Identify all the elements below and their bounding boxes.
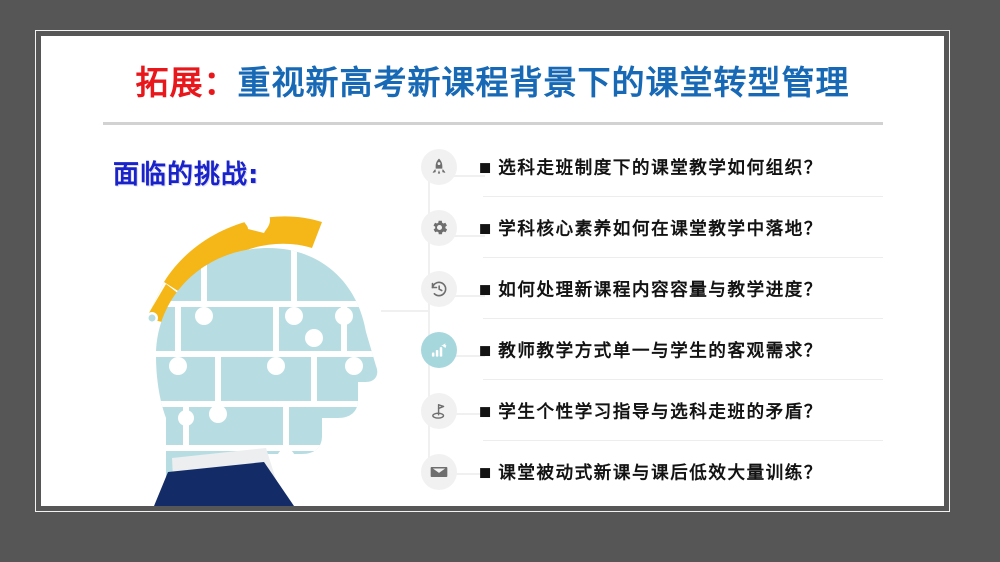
rocket-icon <box>421 149 457 185</box>
page-title: 拓展：重视新高考新课程背景下的课堂转型管理 <box>41 64 944 102</box>
list-item-text: ■教师教学方式单一与学生的客观需求？ <box>479 337 823 362</box>
bullet-square: ■ <box>479 282 491 297</box>
list-item[interactable]: ■学科核心素养如何在课堂教学中落地？ <box>421 197 941 258</box>
envelope-icon <box>421 454 457 490</box>
title-divider <box>103 122 883 125</box>
bullet-square: ■ <box>479 465 491 480</box>
challenge-list: ■选科走班制度下的课堂教学如何组织？ ■学科核心素养如何在课堂教学中落地？ <box>421 136 941 506</box>
list-item-label: 学科核心素养如何在课堂教学中落地？ <box>498 219 823 239</box>
bullet-square: ■ <box>479 160 491 175</box>
list-item[interactable]: ■学生个性学习指导与选科走班的矛盾？ <box>421 380 941 441</box>
golf-flag-icon <box>421 393 457 429</box>
list-item-label: 如何处理新课程内容容量与教学进度？ <box>498 280 823 300</box>
title-prefix: 拓展： <box>136 63 238 102</box>
bar-chart-icon <box>421 332 457 368</box>
list-item-text: ■学科核心素养如何在课堂教学中落地？ <box>479 215 823 240</box>
slide-canvas: 拓展：重视新高考新课程背景下的课堂转型管理 面临的挑战: <box>0 0 1000 562</box>
bullet-square: ■ <box>479 404 491 419</box>
list-item-text: ■选科走班制度下的课堂教学如何组织？ <box>479 154 823 179</box>
list-item-text: ■学生个性学习指导与选科走班的矛盾？ <box>479 398 823 423</box>
title-main: 重视新高考新课程背景下的课堂转型管理 <box>238 63 850 102</box>
bullet-square: ■ <box>479 343 491 358</box>
bullet-square: ■ <box>479 221 491 236</box>
list-item[interactable]: ■课堂被动式新课与课后低效大量训练？ <box>421 441 941 502</box>
list-item-label: 课堂被动式新课与课后低效大量训练？ <box>498 463 823 483</box>
history-clock-icon <box>421 271 457 307</box>
list-item[interactable]: ■如何处理新课程内容容量与教学进度？ <box>421 258 941 319</box>
list-item[interactable]: ■教师教学方式单一与学生的客观需求？ <box>421 319 941 380</box>
list-item-text: ■课堂被动式新课与课后低效大量训练？ <box>479 459 823 484</box>
list-item-text: ■如何处理新课程内容容量与教学进度？ <box>479 276 823 301</box>
list-item-label: 学生个性学习指导与选科走班的矛盾？ <box>498 402 823 422</box>
list-item-label: 教师教学方式单一与学生的客观需求？ <box>498 341 823 361</box>
list-item-label: 选科走班制度下的课堂教学如何组织？ <box>498 158 823 178</box>
gear-icon <box>421 210 457 246</box>
list-item[interactable]: ■选科走班制度下的课堂教学如何组织？ <box>421 136 941 197</box>
slide-content-area: 拓展：重视新高考新课程背景下的课堂转型管理 面临的挑战: <box>41 36 944 506</box>
